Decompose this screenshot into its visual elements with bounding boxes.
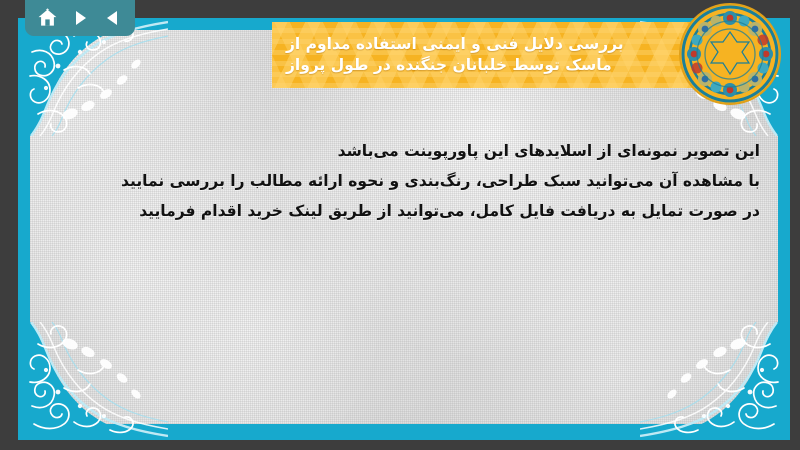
canvas-texture (30, 30, 778, 424)
body-line-3: در صورت تمایل به دریافت فایل کامل، می‌تو… (48, 196, 760, 226)
body-line-1: این تصویر نمونه‌ای از اسلایدهای این پاور… (48, 136, 760, 166)
body-line-2: با مشاهده آن می‌توانید سبک طراحی، رنگ‌بن… (48, 166, 760, 196)
home-icon (37, 8, 58, 28)
slide-title-band: بررسی دلایل فنی و ایمنی استفاده مداوم از… (272, 22, 722, 88)
title-line-2: ماسک توسط خلبانان جنگنده در طول پرواز (286, 55, 612, 76)
slide-body-text: این تصویر نمونه‌ای از اسلایدهای این پاور… (48, 136, 760, 227)
title-line-1: بررسی دلایل فنی و ایمنی استفاده مداوم از (286, 34, 624, 55)
triangle-left-icon (104, 9, 122, 27)
navigation-bar (25, 0, 135, 36)
ornamental-medallion (678, 2, 782, 106)
previous-slide-button[interactable] (100, 5, 126, 31)
slide-canvas (30, 30, 778, 424)
home-button[interactable] (34, 5, 60, 31)
triangle-right-icon (71, 9, 89, 27)
slide-viewer: این تصویر نمونه‌ای از اسلایدهای این پاور… (0, 0, 800, 450)
next-slide-button[interactable] (67, 5, 93, 31)
